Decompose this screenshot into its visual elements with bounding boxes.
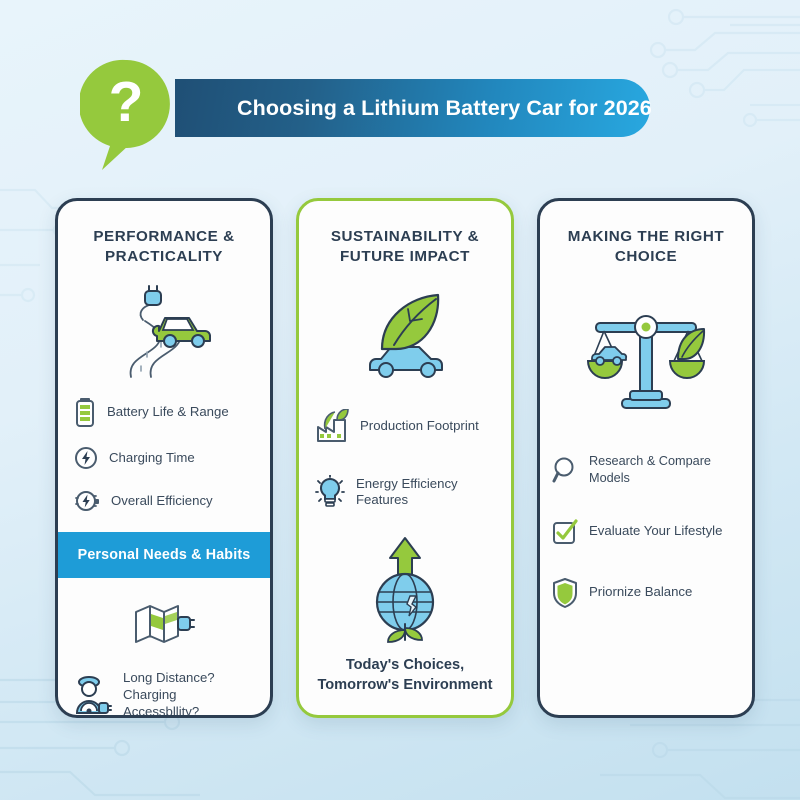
- list-item-label: Research & Compare Models: [589, 453, 736, 486]
- card-title: MAKING THE RIGHT CHOICE: [540, 227, 752, 267]
- efficiency-bolt-icon: [74, 489, 100, 513]
- factory-with-leaf-icon: [315, 409, 349, 443]
- folded-map-with-plug-icon: [132, 600, 196, 648]
- question-mark-speech-bubble-icon: ?: [80, 58, 184, 170]
- sub-note[interactable]: Long Distance? Charging Accessbllity?: [58, 670, 270, 718]
- sub-note-line-1: Long Distance?: [123, 670, 215, 685]
- magnifying-glass-icon: [552, 456, 578, 484]
- list-item[interactable]: Priornize Balance: [540, 578, 752, 608]
- list-item-label: Priornize Balance: [589, 584, 692, 601]
- list-item[interactable]: Energy Efficiency Features: [299, 475, 511, 509]
- card-title: SUSTAINABILITY & FUTURE IMPACT: [299, 227, 511, 267]
- highlight-personal-needs[interactable]: Personal Needs & Habits: [58, 532, 270, 578]
- leaf-over-blue-car-icon: [352, 291, 458, 383]
- list-item[interactable]: Battery Life & Range: [58, 397, 270, 427]
- card-item-list: Research & Compare Models Evaluate Your …: [540, 453, 752, 627]
- card-item-list: Battery Life & Range Charging Time: [58, 397, 270, 532]
- list-item[interactable]: Evaluate Your Lifestyle: [540, 519, 752, 545]
- electric-car-on-winding-road-icon: [109, 285, 219, 381]
- list-item-label: Energy Efficiency Features: [356, 476, 495, 510]
- list-item-label: Overall Efficiency: [111, 493, 213, 510]
- list-item-label: Evaluate Your Lifestyle: [589, 523, 722, 540]
- list-item-label: Production Footprint: [360, 418, 479, 435]
- checkbox-checked-icon: [552, 519, 578, 545]
- card-making-the-right-choice[interactable]: MAKING THE RIGHT CHOICE: [537, 198, 755, 718]
- question-mark-glyph: ?: [80, 58, 172, 150]
- card-sustainability-future-impact[interactable]: SUSTAINABILITY & FUTURE IMPACT: [296, 198, 514, 718]
- list-item[interactable]: Charging Time: [58, 446, 270, 470]
- list-item[interactable]: Production Footprint: [299, 409, 511, 443]
- sub-note-text: Long Distance? Charging Accessbllity?: [123, 670, 254, 718]
- page-title: Choosing a Lithium Battery Car for 2026: [237, 96, 652, 121]
- card-footer-note: Today's Choices, Tomorrow's Environment: [299, 656, 511, 695]
- driver-at-wheel-icon: [74, 675, 112, 717]
- title-bar: Choosing a Lithium Battery Car for 2026: [175, 79, 650, 137]
- sub-note-line-2: Charging Accessbllity?: [123, 687, 199, 718]
- card-title: PERFORMANCE & PRACTICALITY: [58, 227, 270, 267]
- card-item-list: Production Footprint Energy Efficiency F…: [299, 409, 511, 528]
- lightning-bolt-circle-icon: [74, 446, 98, 470]
- balance-scales-car-vs-leaf-icon: [578, 303, 714, 421]
- globe-with-up-arrow-and-sprout-icon: [362, 536, 448, 646]
- shield-icon: [552, 578, 578, 608]
- header: Choosing a Lithium Battery Car for 2026 …: [80, 58, 670, 170]
- list-item[interactable]: Overall Efficiency: [58, 489, 270, 513]
- list-item[interactable]: Research & Compare Models: [540, 453, 752, 486]
- cards-container: PERFORMANCE & PRACTICALITY: [55, 198, 755, 718]
- list-item-label: Battery Life & Range: [107, 404, 229, 421]
- card-performance-practicality[interactable]: PERFORMANCE & PRACTICALITY: [55, 198, 273, 718]
- lightbulb-icon: [315, 475, 345, 509]
- battery-icon: [74, 397, 96, 427]
- list-item-label: Charging Time: [109, 450, 195, 467]
